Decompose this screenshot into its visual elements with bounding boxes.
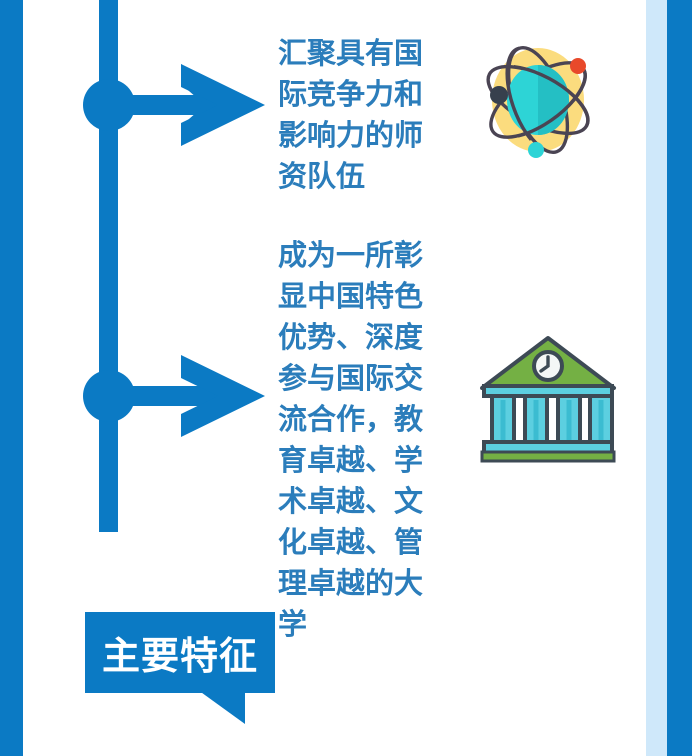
bank-building-icon xyxy=(478,330,618,470)
callout-tail xyxy=(85,690,275,724)
building-base xyxy=(482,452,614,461)
atom-icon xyxy=(478,30,598,170)
timeline-node-arrow-1 xyxy=(82,57,267,153)
atom-electron-dark xyxy=(490,86,508,104)
timeline-node-arrow-2 xyxy=(82,348,267,444)
callout-label: 主要特征 xyxy=(85,612,275,692)
atom-electron-cyan xyxy=(528,142,544,158)
right-edge-bar-dark xyxy=(667,0,692,756)
right-edge-bar-light xyxy=(646,0,667,756)
vision-item-text-2: 成为一所彰显中国特色优势、深度参与国际交流合作，教育卓越、学术卓越、文化卓越、管… xyxy=(278,235,428,645)
vision-item-text-1: 汇聚具有国际竞争力和影响力的师资队伍 xyxy=(278,33,428,197)
left-edge-bar xyxy=(0,0,23,756)
main-features-callout[interactable]: 主要特征 xyxy=(85,612,275,722)
atom-electron-red xyxy=(570,58,586,74)
